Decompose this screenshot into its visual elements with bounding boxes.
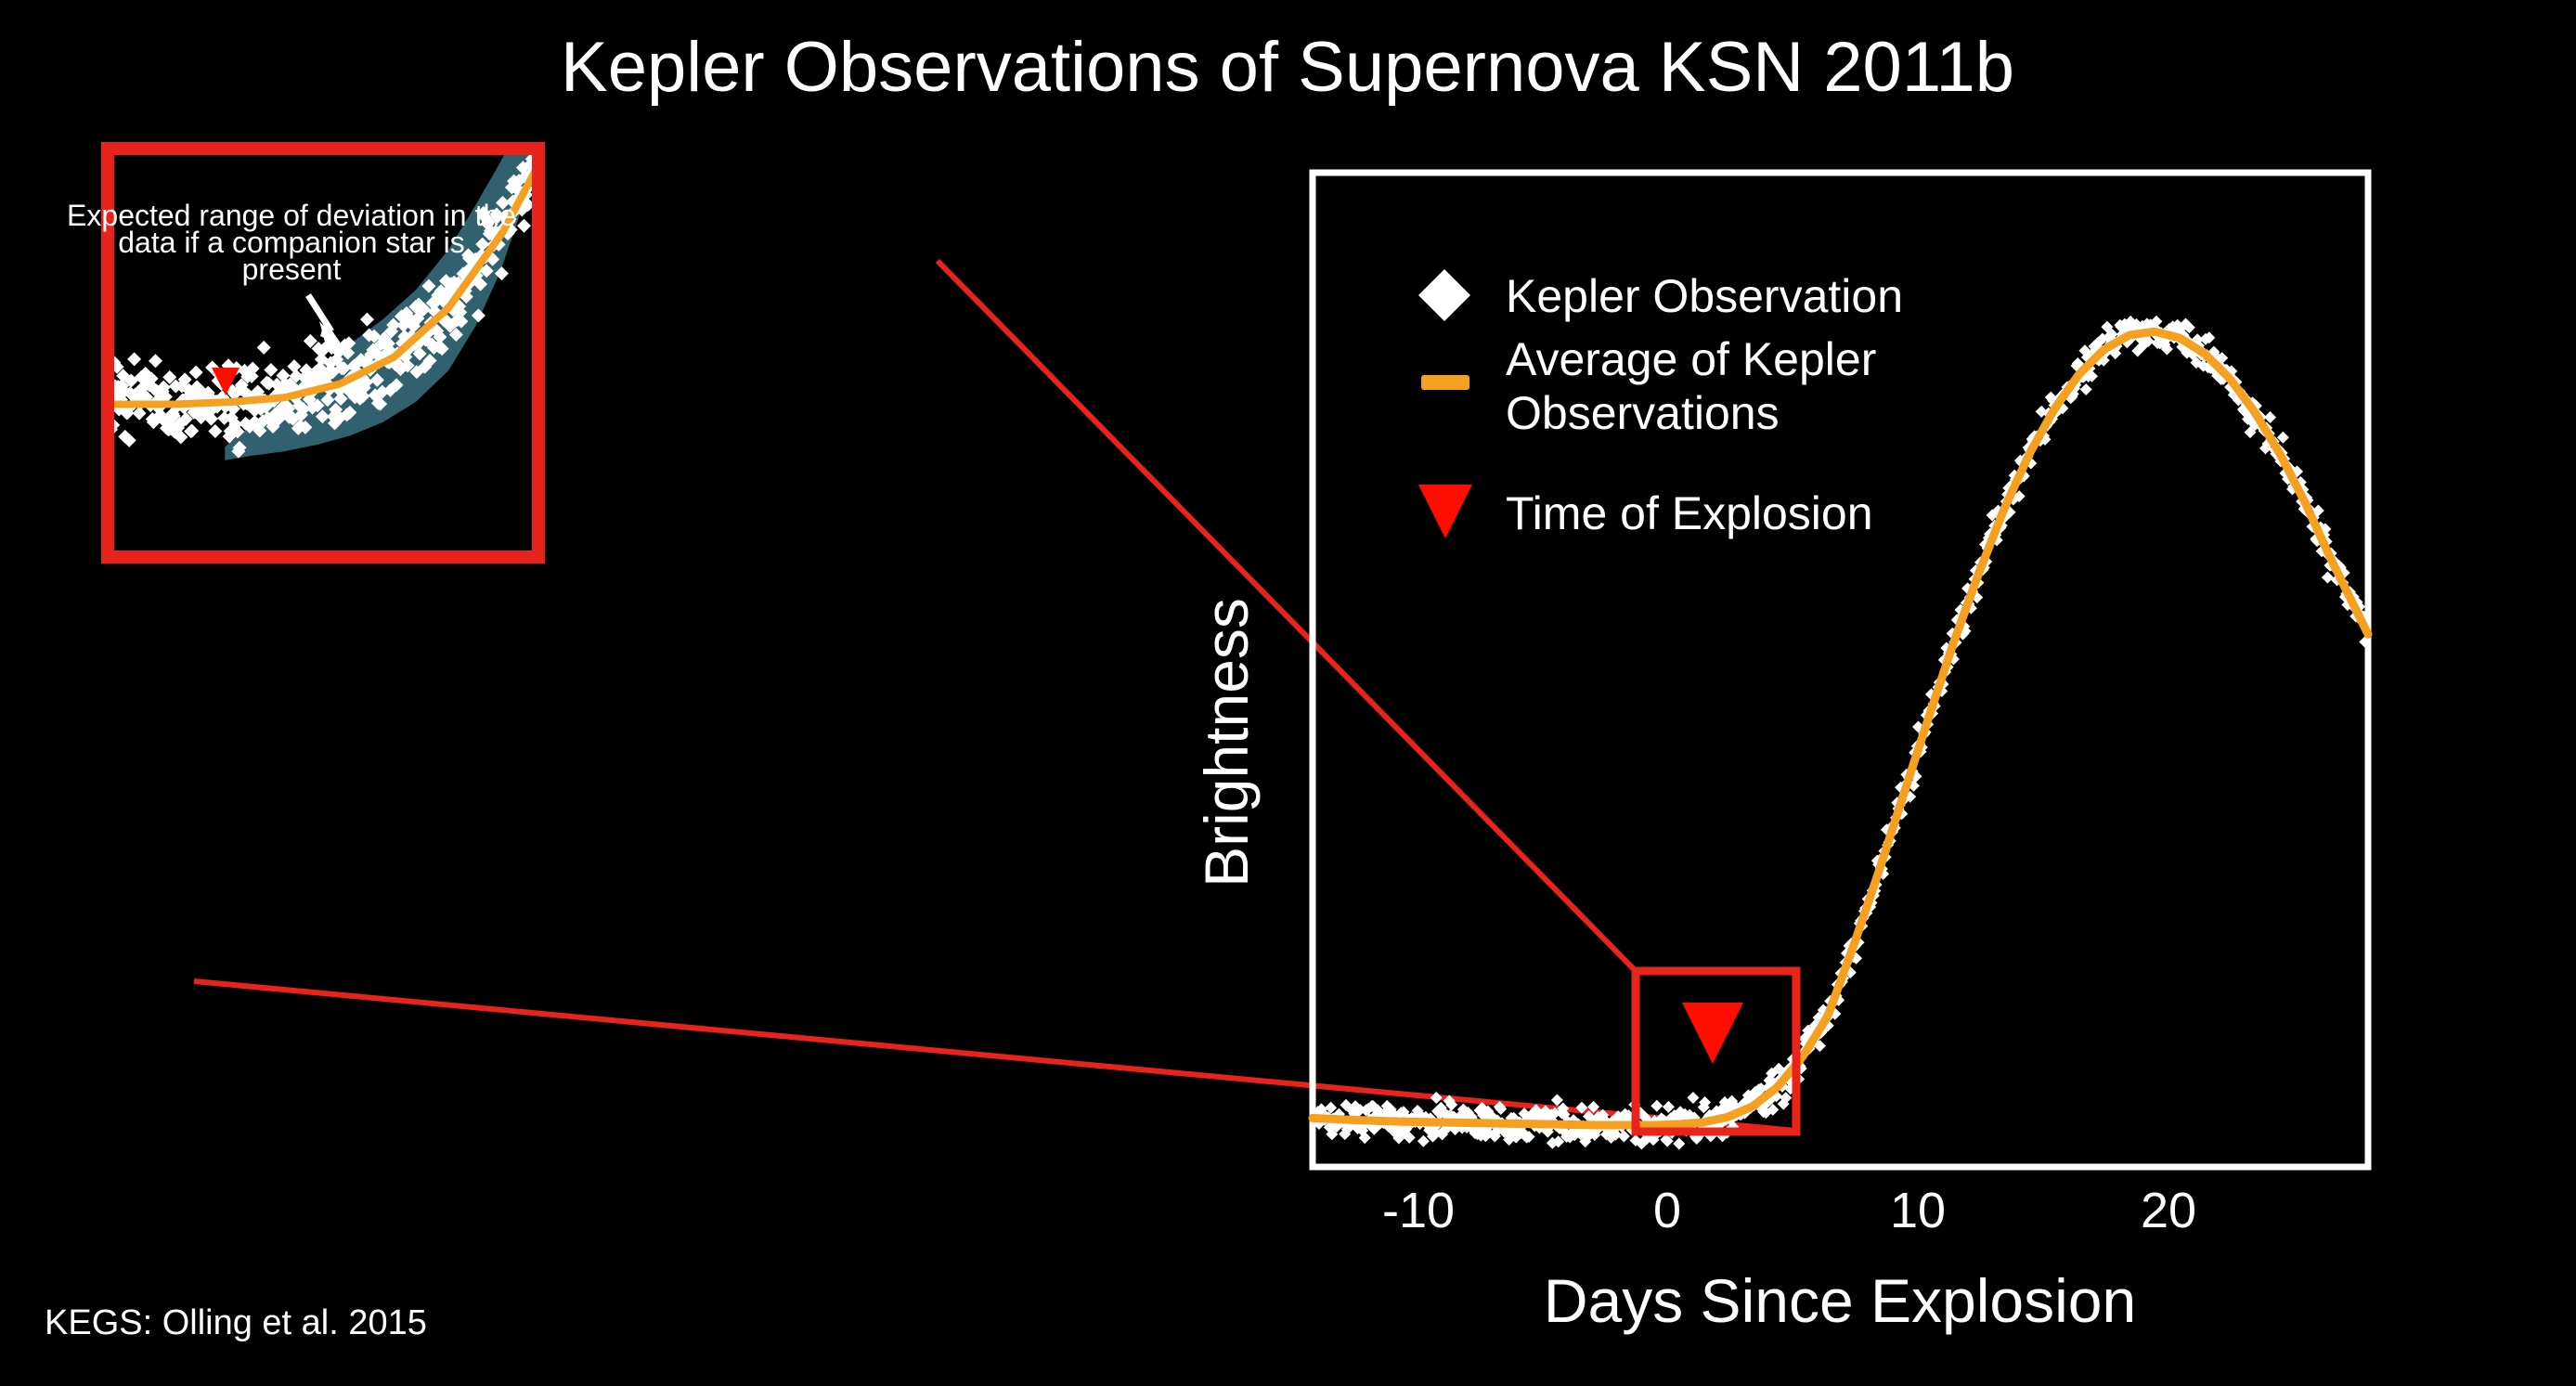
legend-label-average-line2: Observations xyxy=(1506,387,1780,439)
line-segment-icon xyxy=(1421,375,1469,390)
xtick-label: -10 xyxy=(1382,1183,1455,1238)
figure-canvas: Kepler Observations of Supernova KSN 201… xyxy=(0,0,2576,1386)
x-axis-label: Days Since Explosion xyxy=(1544,1266,2136,1335)
legend-label-kepler-observation: Kepler Observation xyxy=(1506,270,1903,322)
xtick-label: 10 xyxy=(1890,1183,1946,1238)
legend-label-average-line1: Average of Kepler xyxy=(1506,333,1876,385)
y-axis-label: Brightness xyxy=(1192,598,1261,887)
legend-label-time-of-explosion: Time of Explosion xyxy=(1506,487,1873,539)
page-title: Kepler Observations of Supernova KSN 201… xyxy=(561,28,2014,107)
credit-line: KEGS: Olling et al. 2015 xyxy=(45,1303,427,1342)
xtick-label: 20 xyxy=(2141,1183,2196,1238)
inset-plot xyxy=(104,93,542,557)
annotation-line-3: present xyxy=(242,253,342,286)
xtick-label: 0 xyxy=(1653,1183,1681,1238)
supernova-light-curve-figure: Kepler Observations of Supernova KSN 201… xyxy=(0,0,2576,1386)
